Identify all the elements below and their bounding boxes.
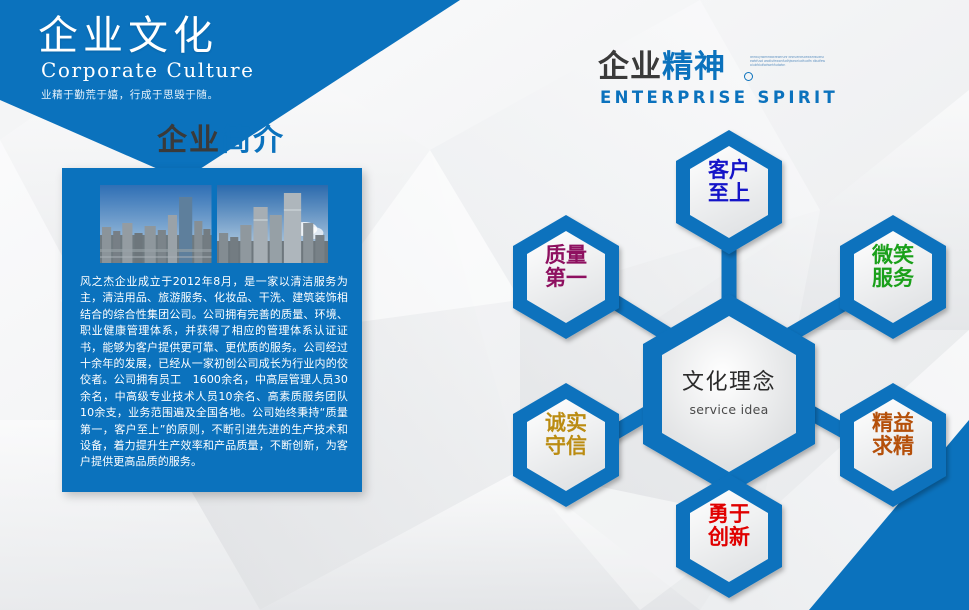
hex-integrity-shape <box>513 383 619 507</box>
spirit-heading-dark: 企业 <box>598 49 662 85</box>
city-skyline-photo-1 <box>100 185 212 263</box>
hex-excellence-shape <box>840 383 946 507</box>
hex-center-label-cn: 文化理念 <box>629 364 829 396</box>
company-intro-heading: 企业简介 <box>157 115 285 159</box>
culture-hexagon-cluster: 文化理念 service idea 客户 至上 质量 第一 微笑 服务 诚实 守… <box>490 118 969 610</box>
hex-innovation-shape <box>676 474 782 598</box>
spirit-heading-en: ENTERPRISE SPIRIT <box>600 88 838 107</box>
hex-smile-service-shape <box>840 215 946 339</box>
intro-heading-blue: 简介 <box>221 123 285 158</box>
photo-pair <box>100 185 328 263</box>
enterprise-spirit-heading: 企业精神 ENTERPRISE SPIRIT dhfduyiwehfdbkfew… <box>598 50 838 107</box>
hex-customer-first-shape <box>676 130 782 254</box>
decorative-micro-text: dhfduyiwehfdbkfewiruhf dhifuerbfuiewahfs… <box>750 56 826 80</box>
intro-heading-dark: 企业 <box>157 123 221 158</box>
poster-canvas: 企业文化 Corporate Culture 业精于勤荒于嬉，行成于思毁于随。 … <box>0 0 969 610</box>
hex-center-label-en: service idea <box>629 402 829 417</box>
company-intro-card: 风之杰企业成立于2012年8月，是一家以清洁服务为主，清洁用品、旅游服务、化妆品… <box>62 168 362 492</box>
hex-quality-first-shape <box>513 215 619 339</box>
banner-title-cn: 企业文化 <box>38 14 398 59</box>
spirit-heading-blue: 精神 <box>662 49 726 85</box>
city-skyline-photo-2 <box>217 185 329 263</box>
company-intro-body: 风之杰企业成立于2012年8月，是一家以清洁服务为主，清洁用品、旅游服务、化妆品… <box>80 274 348 471</box>
